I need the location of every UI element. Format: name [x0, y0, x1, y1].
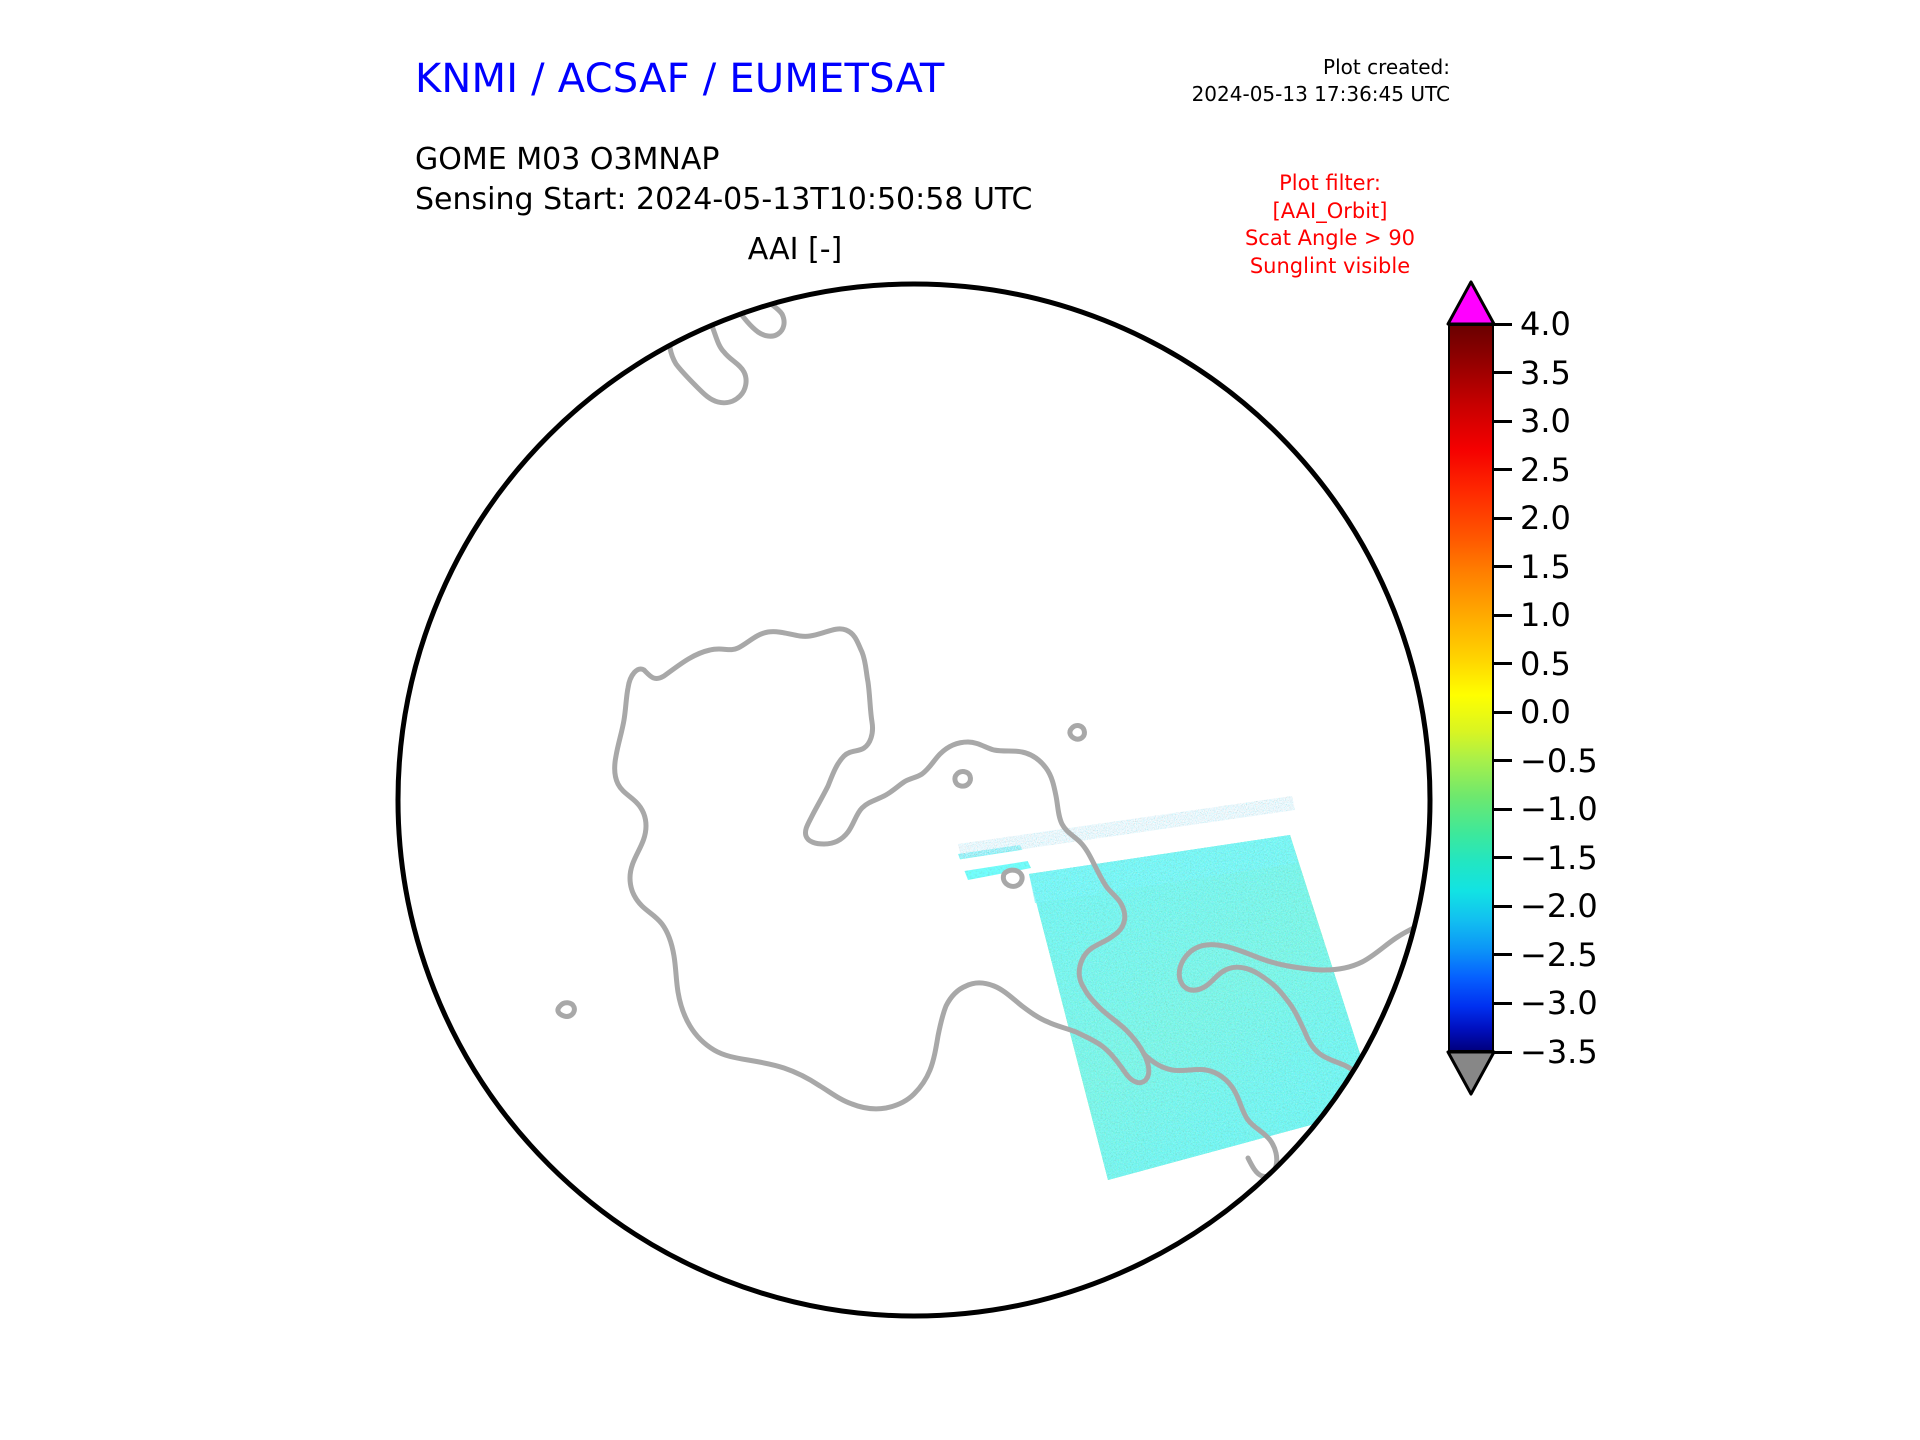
plot-created-block: Plot created: 2024-05-13 17:36:45 UTC	[1130, 54, 1450, 108]
colorbar-tick-label: 4.0	[1520, 305, 1571, 343]
colorbar-tick-mark	[1494, 759, 1512, 762]
colorbar-tick-mark	[1494, 662, 1512, 665]
colorbar-tick-label: 0.0	[1520, 693, 1571, 731]
colorbar-tick-mark	[1494, 468, 1512, 471]
falkland-islands	[1416, 994, 1436, 1008]
colorbar-tick-mark	[1494, 953, 1512, 956]
product-info-block: GOME M03 O3MNAP Sensing Start: 2024-05-1…	[415, 140, 1175, 220]
colorbar-tick-mark	[1494, 711, 1512, 714]
plot-filter-line-1: [AAI_Orbit]	[1180, 198, 1480, 226]
island-small-2	[955, 772, 971, 787]
plot-filter-block: Plot filter: [AAI_Orbit] Scat Angle > 90…	[1180, 170, 1480, 281]
colorbar-tick-label: −2.5	[1520, 936, 1598, 974]
plot-filter-line-2: Scat Angle > 90	[1180, 225, 1480, 253]
colorbar-tick-mark	[1494, 1051, 1512, 1054]
plot-filter-title: Plot filter:	[1180, 170, 1480, 198]
colorbar-tick-label: 3.0	[1520, 402, 1571, 440]
colorbar-tick-mark	[1494, 905, 1512, 908]
colorbar-tick-label: −1.0	[1520, 790, 1598, 828]
colorbar-tick-label: −2.0	[1520, 887, 1598, 925]
island-small-3	[1070, 726, 1085, 740]
colorbar-tick-label: −3.0	[1520, 984, 1598, 1022]
colorbar-tick-mark	[1494, 371, 1512, 374]
tierra-del-fuego	[1401, 979, 1435, 999]
colorbar-tick-mark	[1494, 323, 1512, 326]
colorbar-tick-mark	[1494, 1002, 1512, 1005]
island-small-4	[558, 1003, 574, 1017]
colorbar-tick-label: −1.5	[1520, 839, 1598, 877]
colorbar-ticks: 4.03.53.02.52.01.51.00.50.0−0.5−1.0−1.5−…	[1438, 282, 1858, 1122]
colorbar-tick-mark	[1494, 614, 1512, 617]
colorbar[interactable]: 4.03.53.02.52.01.51.00.50.0−0.5−1.0−1.5−…	[1438, 282, 1858, 1122]
map-title: AAI [-]	[415, 232, 1175, 267]
sensing-start: Sensing Start: 2024-05-13T10:50:58 UTC	[415, 180, 1175, 220]
colorbar-tick-label: 1.0	[1520, 596, 1571, 634]
map-canvas	[392, 278, 1436, 1322]
colorbar-tick-label: 2.0	[1520, 499, 1571, 537]
tasmania-outline	[451, 402, 502, 459]
colorbar-tick-mark	[1494, 517, 1512, 520]
colorbar-tick-label: 2.5	[1520, 451, 1571, 489]
island-small-1	[1003, 870, 1022, 886]
colorbar-tick-label: 3.5	[1520, 354, 1571, 392]
plot-created-label: Plot created:	[1130, 54, 1450, 81]
colorbar-tick-label: −3.5	[1520, 1033, 1598, 1071]
colorbar-tick-mark	[1494, 856, 1512, 859]
plot-filter-line-3: Sunglint visible	[1180, 253, 1480, 281]
plot-created-timestamp: 2024-05-13 17:36:45 UTC	[1130, 81, 1450, 108]
product-name: GOME M03 O3MNAP	[415, 140, 1175, 180]
colorbar-tick-mark	[1494, 808, 1512, 811]
organisation-title: KNMI / ACSAF / EUMETSAT	[415, 56, 1115, 102]
colorbar-tick-label: 1.5	[1520, 548, 1571, 586]
colorbar-tick-label: −0.5	[1520, 742, 1598, 780]
colorbar-tick-mark	[1494, 420, 1512, 423]
australia-corner	[392, 358, 449, 390]
colorbar-tick-label: 0.5	[1520, 645, 1571, 683]
polar-map-plot[interactable]	[392, 278, 1436, 1322]
colorbar-tick-mark	[1494, 565, 1512, 568]
